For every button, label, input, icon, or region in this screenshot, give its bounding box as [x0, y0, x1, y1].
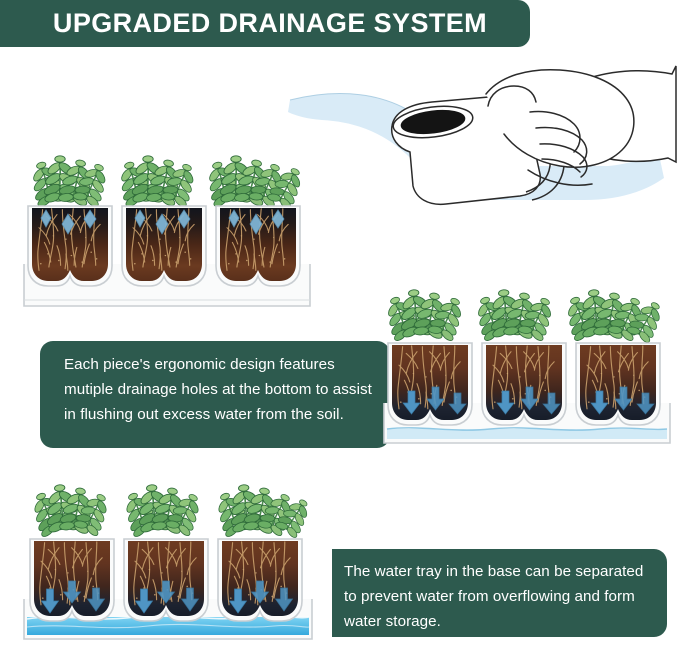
cell-2 — [124, 539, 208, 621]
cell-1 — [30, 539, 114, 621]
foliage — [25, 483, 316, 541]
foliage — [379, 288, 669, 346]
page-title: UPGRADED DRAINAGE SYSTEM — [53, 10, 487, 37]
cell-3 — [576, 343, 660, 425]
cell-3 — [218, 539, 302, 621]
foliage — [25, 156, 309, 212]
caption-water-tray: The water tray in the base can be separa… — [332, 549, 667, 637]
caption-drainage-holes: Each piece's ergonomic design features m… — [40, 341, 390, 448]
tray-group-water-storage — [18, 487, 318, 642]
header-banner: UPGRADED DRAINAGE SYSTEM — [0, 0, 530, 47]
cell-1 — [28, 206, 112, 286]
cell-2 — [482, 343, 566, 425]
tray-group-draining — [382, 293, 672, 445]
tray-group-watering — [22, 160, 312, 310]
caption-text: The water tray in the base can be separa… — [344, 559, 653, 634]
cell-1 — [388, 343, 472, 425]
caption-text: Each piece's ergonomic design features m… — [64, 352, 374, 427]
cell-3 — [216, 206, 300, 286]
cell-2 — [122, 206, 206, 286]
watering-illustration — [278, 66, 676, 244]
